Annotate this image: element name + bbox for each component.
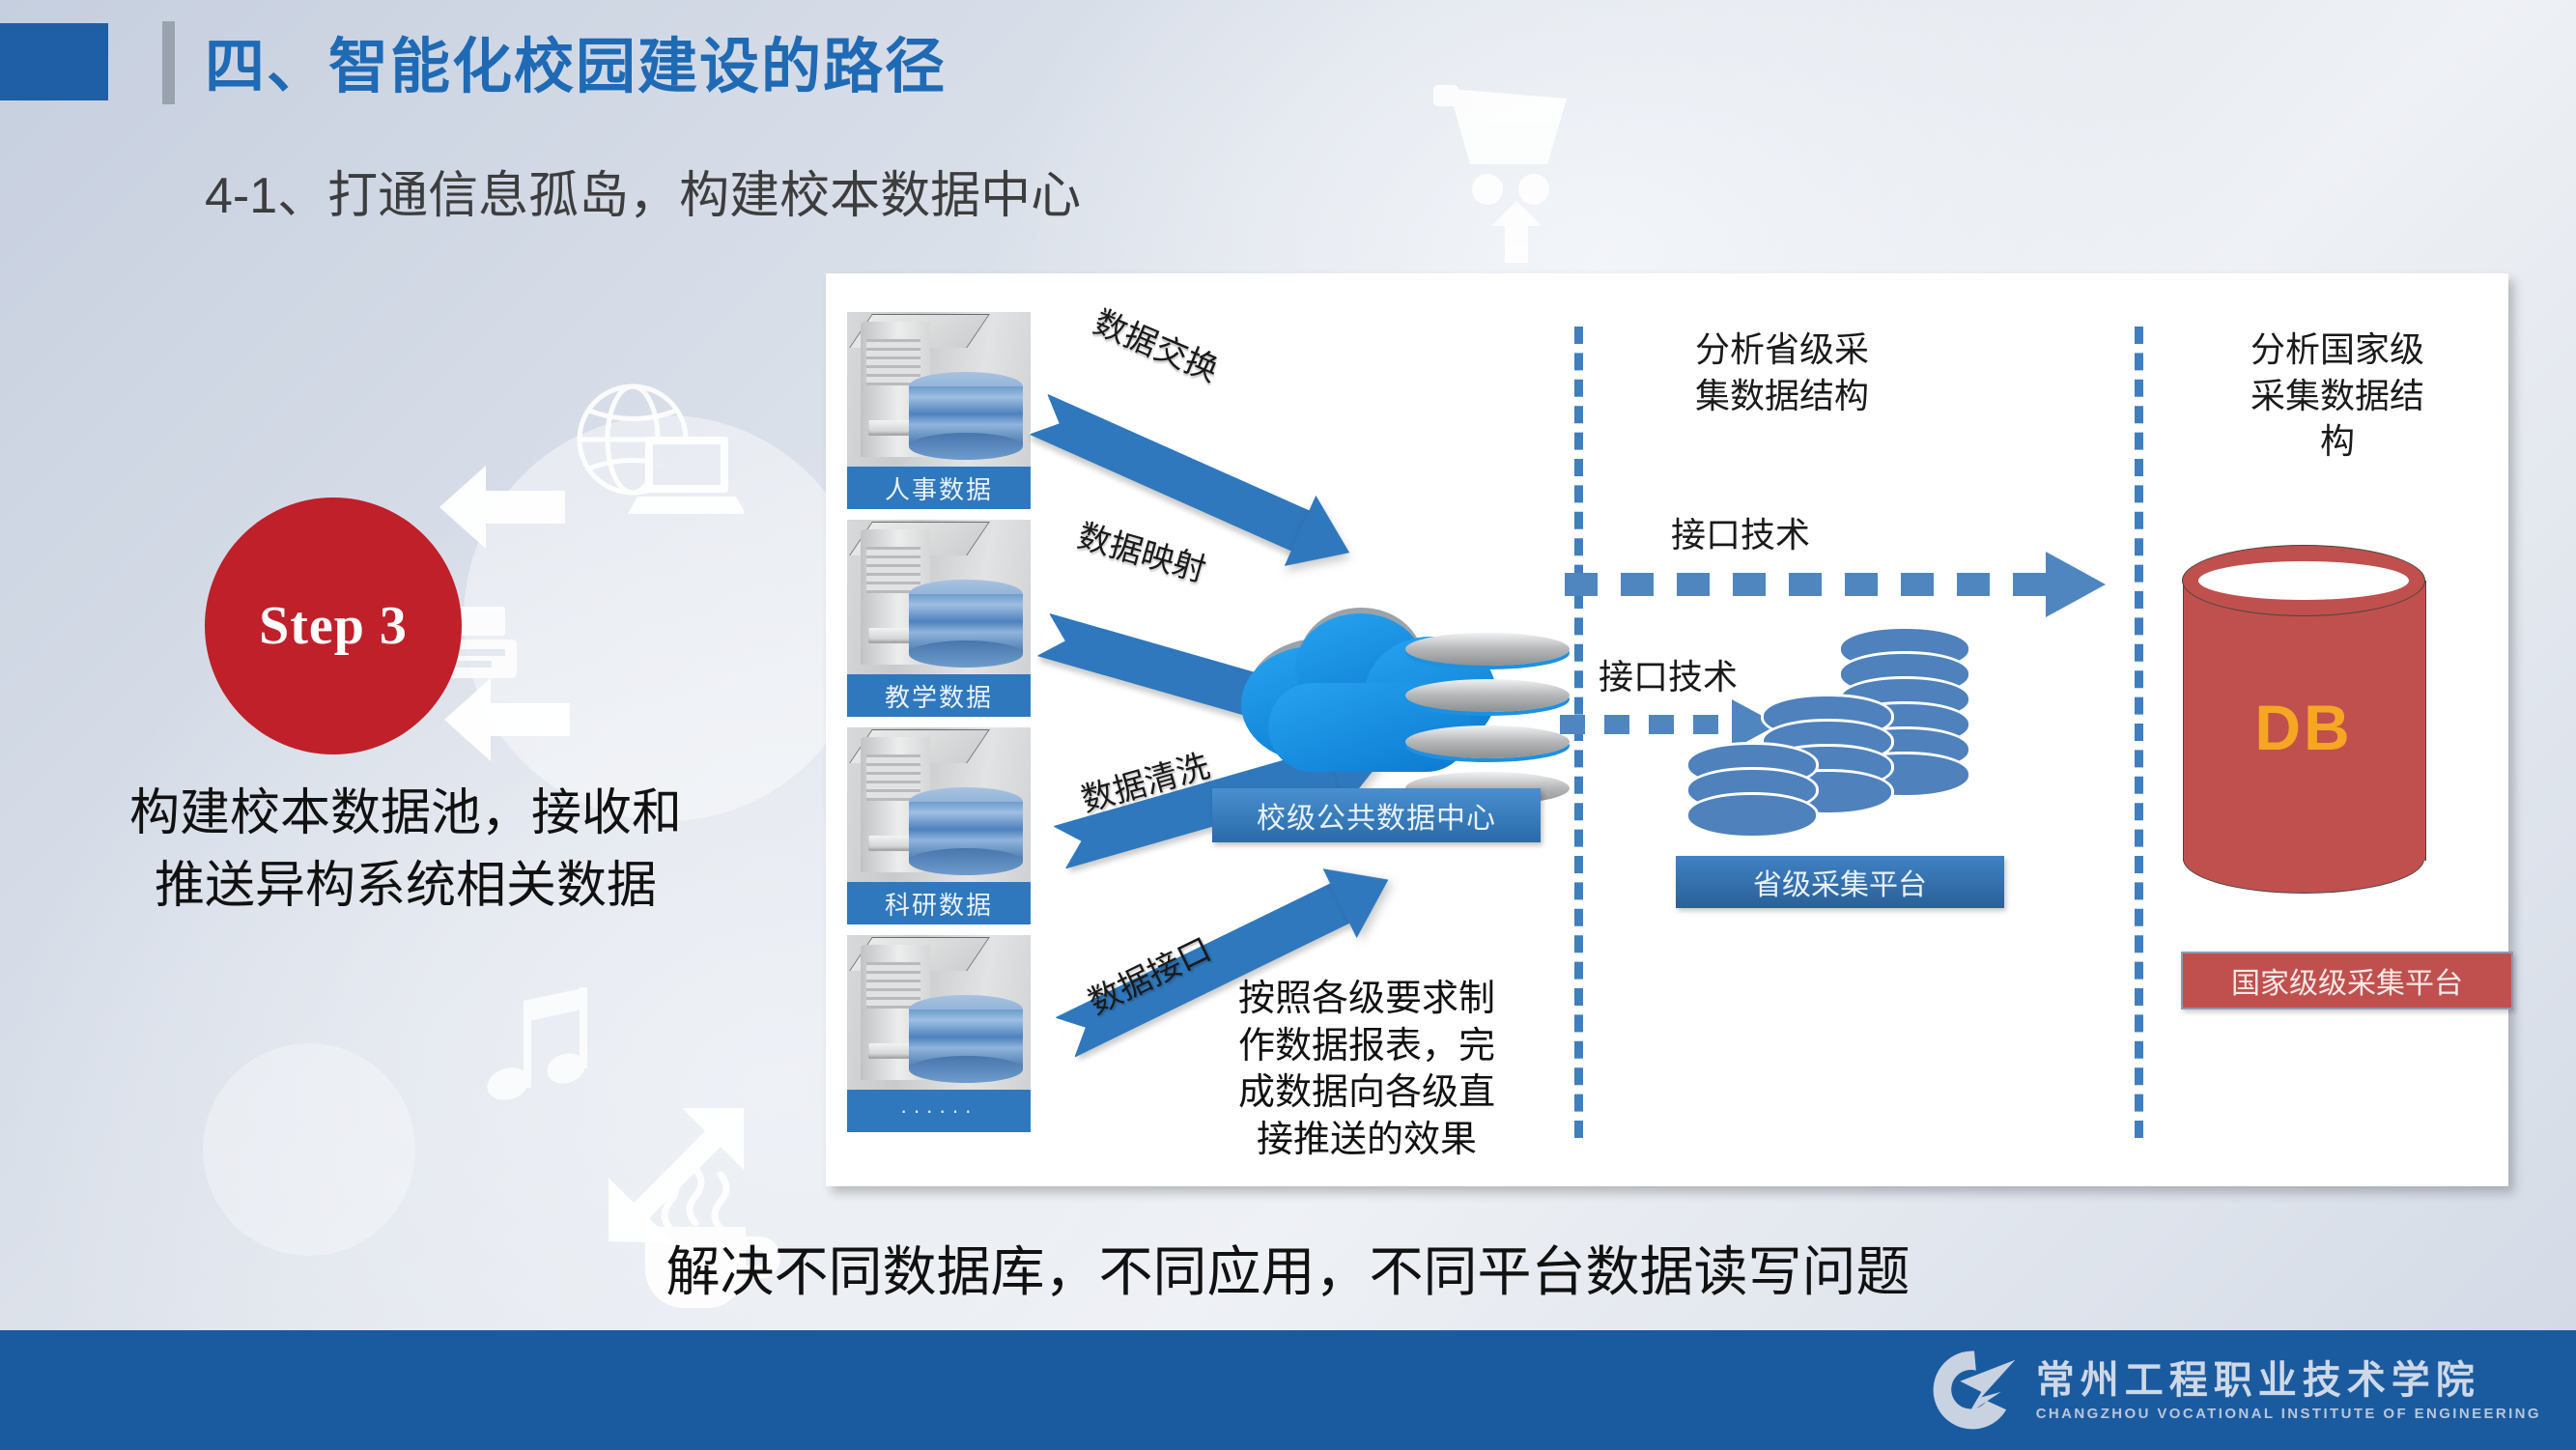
server-illustration	[847, 520, 1031, 674]
server-illustration	[847, 727, 1031, 882]
central-data-center-label: 校级公共数据中心	[1212, 788, 1541, 842]
diagram-note-line-1: 按照各级要求制	[1174, 976, 1560, 1023]
source-server-label: 教学数据	[847, 674, 1031, 717]
province-platform-label: 省级采集平台	[1676, 856, 2004, 908]
music-note-icon	[483, 976, 609, 1121]
watermark-circle-small	[203, 1043, 415, 1256]
database-cylinder-icon	[909, 580, 1023, 668]
national-platform-label: 国家级级采集平台	[2181, 952, 2513, 1009]
logo-text: 常州工程职业技术学院 CHANGZHOU VOCATIONAL INSTITUT…	[2036, 1359, 2541, 1422]
national-heading-line-3: 构	[2178, 418, 2497, 465]
source-server-label: 人事数据	[847, 467, 1031, 509]
globe-laptop-icon	[560, 367, 744, 531]
page-subtitle: 4-1、打通信息孤岛，构建校本数据中心	[205, 155, 1081, 227]
source-server-label: 科研数据	[847, 882, 1031, 924]
database-cylinder-icon	[909, 372, 1023, 461]
logo-name-cn: 常州工程职业技术学院	[2036, 1359, 2541, 1402]
shopping-cart-icon	[1420, 58, 1613, 270]
step-badge-label: Step 3	[259, 595, 408, 657]
source-server-1: 人事数据	[847, 312, 1031, 509]
source-server-3: 科研数据	[847, 727, 1031, 924]
step-description-line-2: 推送异构系统相关数据	[10, 850, 802, 923]
database-cylinder-icon	[909, 787, 1023, 876]
server-illustration	[847, 312, 1031, 467]
flow-arrow-1-label: 数据交换	[1088, 296, 1227, 390]
page-title: 四、智能化校园建设的路径	[205, 17, 947, 104]
header-accent-square	[0, 23, 108, 100]
national-database-icon: DB	[2183, 546, 2424, 894]
slide-canvas: 四、智能化校园建设的路径 4-1、打通信息孤岛，构建校本数据中心 Step 3 …	[0, 0, 2576, 1450]
province-heading-line-2: 集数据结构	[1623, 373, 1941, 419]
source-server-label: ······	[847, 1090, 1031, 1132]
source-server-4: ······	[847, 935, 1031, 1132]
step-description: 构建校本数据池，接收和 推送异构系统相关数据	[10, 778, 802, 924]
province-interface-label: 接口技术	[1671, 507, 1810, 557]
province-heading-line-1: 分析省级采	[1623, 327, 1941, 373]
central-database-icon	[1405, 633, 1570, 807]
institution-logo: 常州工程职业技术学院 CHANGZHOU VOCATIONAL INSTITUT…	[1930, 1344, 2541, 1436]
db-top	[2183, 546, 2424, 615]
divider-dashed-national	[2135, 327, 2143, 1138]
watermark-circle-large	[464, 415, 869, 821]
step-description-line-1: 构建校本数据池，接收和	[10, 778, 802, 850]
logo-name-en: CHANGZHOU VOCATIONAL INSTITUTE OF ENGINE…	[2036, 1406, 2541, 1422]
header-divider-bar	[162, 21, 175, 104]
database-cylinder-icon	[909, 995, 1023, 1084]
diagram-note: 按照各级要求制 作数据报表，完 成数据向各级直 接推送的效果	[1174, 976, 1560, 1164]
province-heading: 分析省级采 集数据结构	[1623, 327, 1941, 418]
step-badge: Step 3	[205, 498, 462, 754]
footer-bar: 常州工程职业技术学院 CHANGZHOU VOCATIONAL INSTITUT…	[0, 1330, 2576, 1450]
national-heading: 分析国家级 采集数据结 构	[2178, 327, 2497, 465]
diagram-note-line-4: 接推送的效果	[1174, 1117, 1560, 1164]
source-server-2: 教学数据	[847, 520, 1031, 717]
province-platform-stacks-icon	[1685, 618, 1995, 860]
logo-mark-icon	[1930, 1346, 2019, 1435]
national-heading-line-2: 采集数据结	[2178, 373, 2497, 419]
province-to-national-dashed-arrow	[1565, 573, 2106, 596]
diagram-note-line-2: 作数据报表，完	[1174, 1023, 1560, 1070]
slide-caption: 解决不同数据库，不同应用，不同平台数据读写问题	[0, 1229, 2576, 1307]
server-illustration	[847, 935, 1031, 1090]
national-heading-line-1: 分析国家级	[2178, 327, 2497, 373]
arrow-left-watermark-icon-2	[444, 676, 570, 763]
db-label: DB	[2183, 691, 2424, 764]
arrow-left-watermark-icon	[439, 464, 565, 551]
diagram-note-line-3: 成数据向各级直	[1174, 1069, 1560, 1117]
flow-arrow-2-label: 数据映射	[1073, 509, 1212, 591]
